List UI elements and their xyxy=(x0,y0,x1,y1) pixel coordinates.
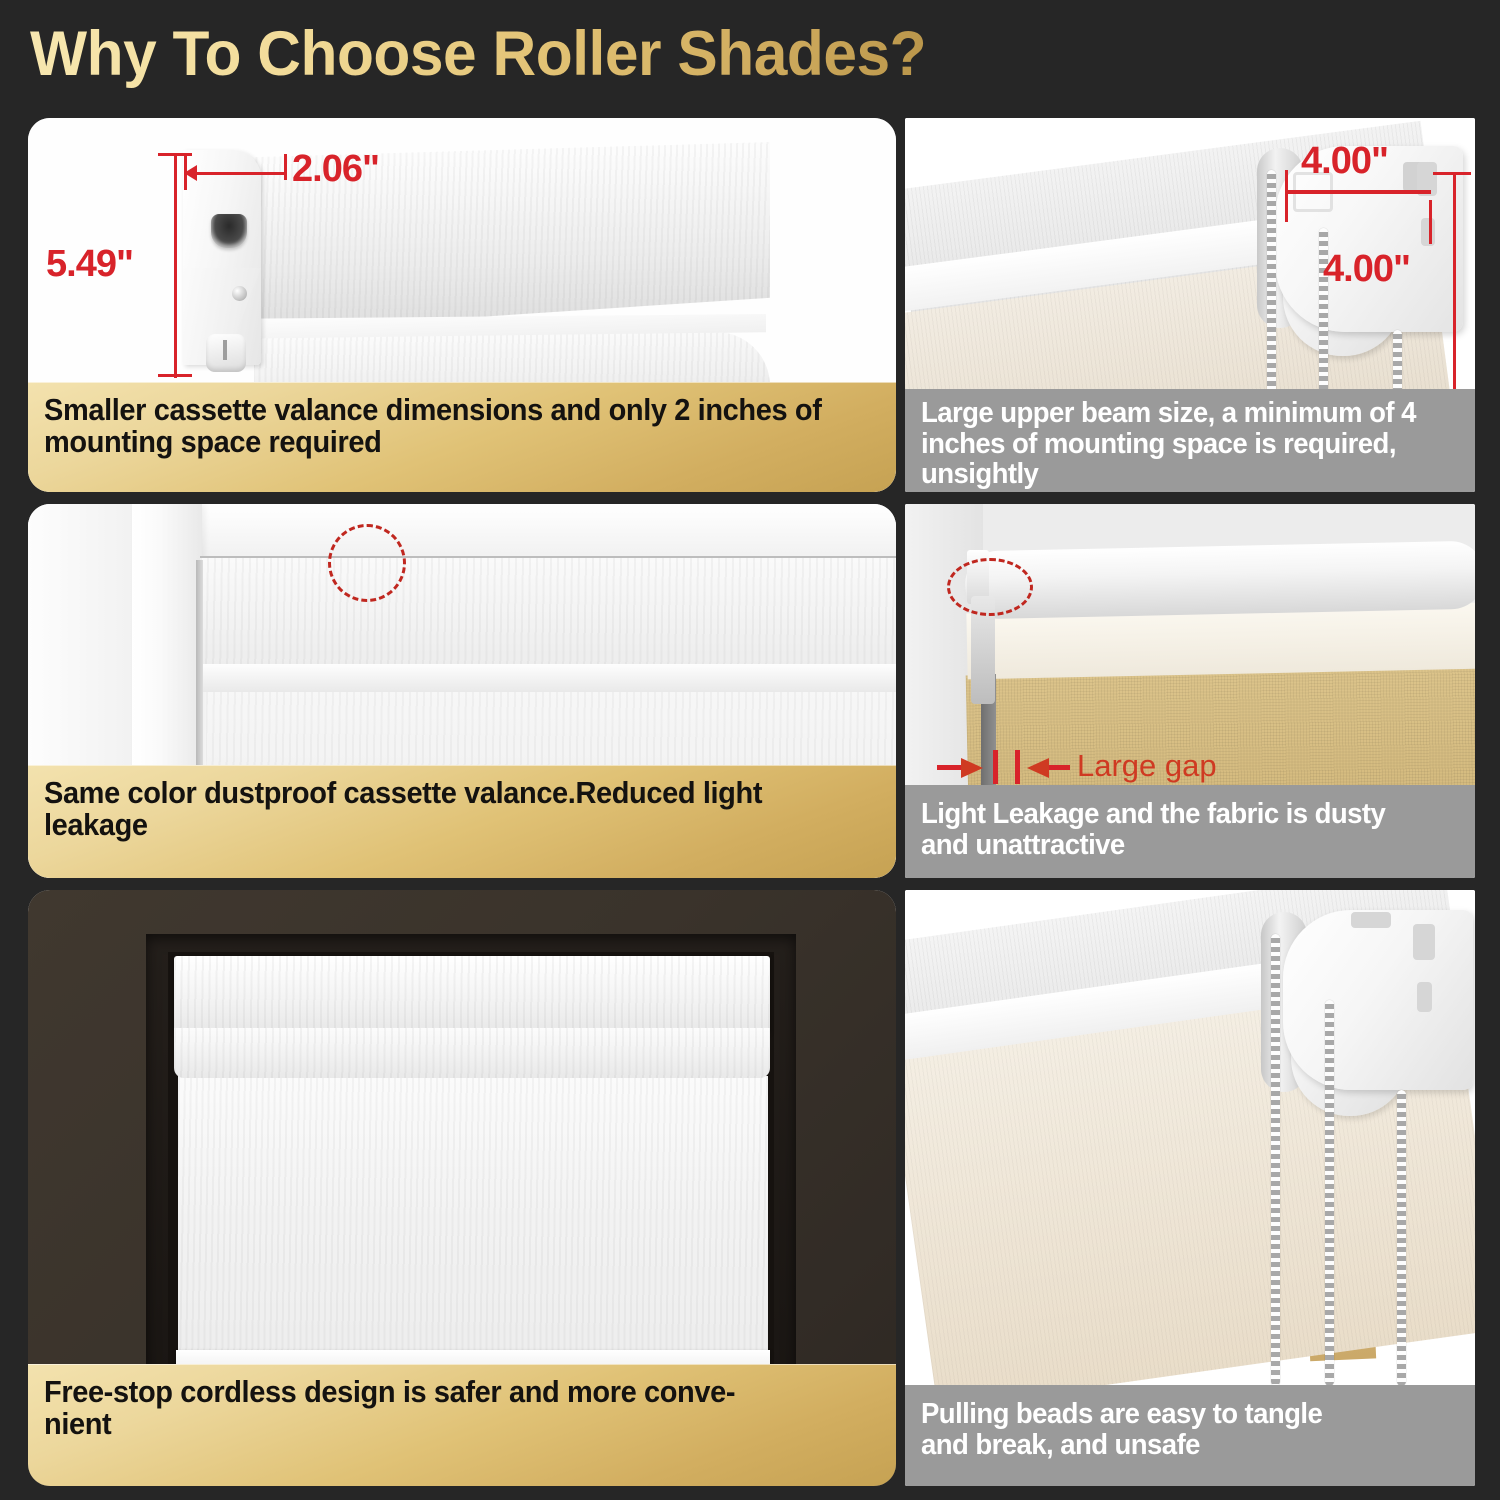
caption-line-1: Free-stop cordless design is safer and m… xyxy=(44,1376,838,1408)
beam-height-dimension-label: 4.00" xyxy=(1323,248,1410,291)
panel-large-upper-beam: 4.00" 4.00" Large upper beam size, a min… xyxy=(905,118,1475,492)
panel-caption-free-stop-cordless: Free-stop cordless design is safer and m… xyxy=(28,1364,896,1486)
comparison-grid: 2.06" 5.49" Smaller cassette valance dim… xyxy=(0,104,1500,1500)
caption-text: Same color dustproof cassette valance.Re… xyxy=(44,777,838,842)
caption-line-2: nient xyxy=(44,1408,838,1440)
mounting-clip xyxy=(206,334,246,372)
panel-caption-light-leakage: Light Leakage and the fabric is dusty an… xyxy=(905,785,1475,878)
caption-line-2: and break, and unsafe xyxy=(921,1430,1432,1461)
beam-width-dimension-label: 4.00" xyxy=(1301,140,1388,183)
bead-chain xyxy=(1397,1090,1406,1386)
caption-text: Smaller cassette valance dimensions and … xyxy=(44,394,838,459)
panel-caption-pulling-beads: Pulling beads are easy to tangle and bre… xyxy=(905,1385,1475,1486)
beam-end-cap xyxy=(1283,910,1473,1090)
panel-caption-smaller-gap: Same color dustproof cassette valance.Re… xyxy=(28,765,896,878)
caption-text: Light Leakage and the fabric is dusty an… xyxy=(921,799,1432,860)
panel-pulling-beads: Pulling beads are easy to tangle and bre… xyxy=(905,890,1475,1486)
panel-caption-large-upper-beam: Large upper beam size, a minimum of 4 in… xyxy=(905,389,1475,492)
page-title: Why To Choose Roller Shades? xyxy=(30,18,926,90)
large-gap-label: Large gap xyxy=(1077,748,1217,784)
height-dimension-label: 5.49" xyxy=(46,243,133,286)
screw-icon xyxy=(232,286,247,301)
caption-line-1: Pulling beads are easy to tangle xyxy=(921,1399,1432,1430)
gap-highlight-circle xyxy=(328,524,406,602)
caption-text: Large upper beam size, a minimum of 4 in… xyxy=(921,398,1432,490)
panel-smaller-gap: smaller gap Same color dustproof cassett… xyxy=(28,504,896,878)
depth-dimension-label: 2.06" xyxy=(292,148,379,191)
gap-highlight-circle xyxy=(947,558,1033,616)
panel-free-stop-cordless: Free-stop cordless design is safer and m… xyxy=(28,890,896,1486)
header-bar: Why To Choose Roller Shades? xyxy=(0,0,1500,104)
bead-chain xyxy=(1271,934,1280,1386)
panel-smaller-cassette: 2.06" 5.49" Smaller cassette valance dim… xyxy=(28,118,896,492)
bead-chain xyxy=(1325,1000,1334,1386)
panel-light-leakage: Large gap Light Leakage and the fabric i… xyxy=(905,504,1475,878)
bracket-hole xyxy=(211,214,247,248)
panel-caption-smaller-cassette: Smaller cassette valance dimensions and … xyxy=(28,382,896,492)
